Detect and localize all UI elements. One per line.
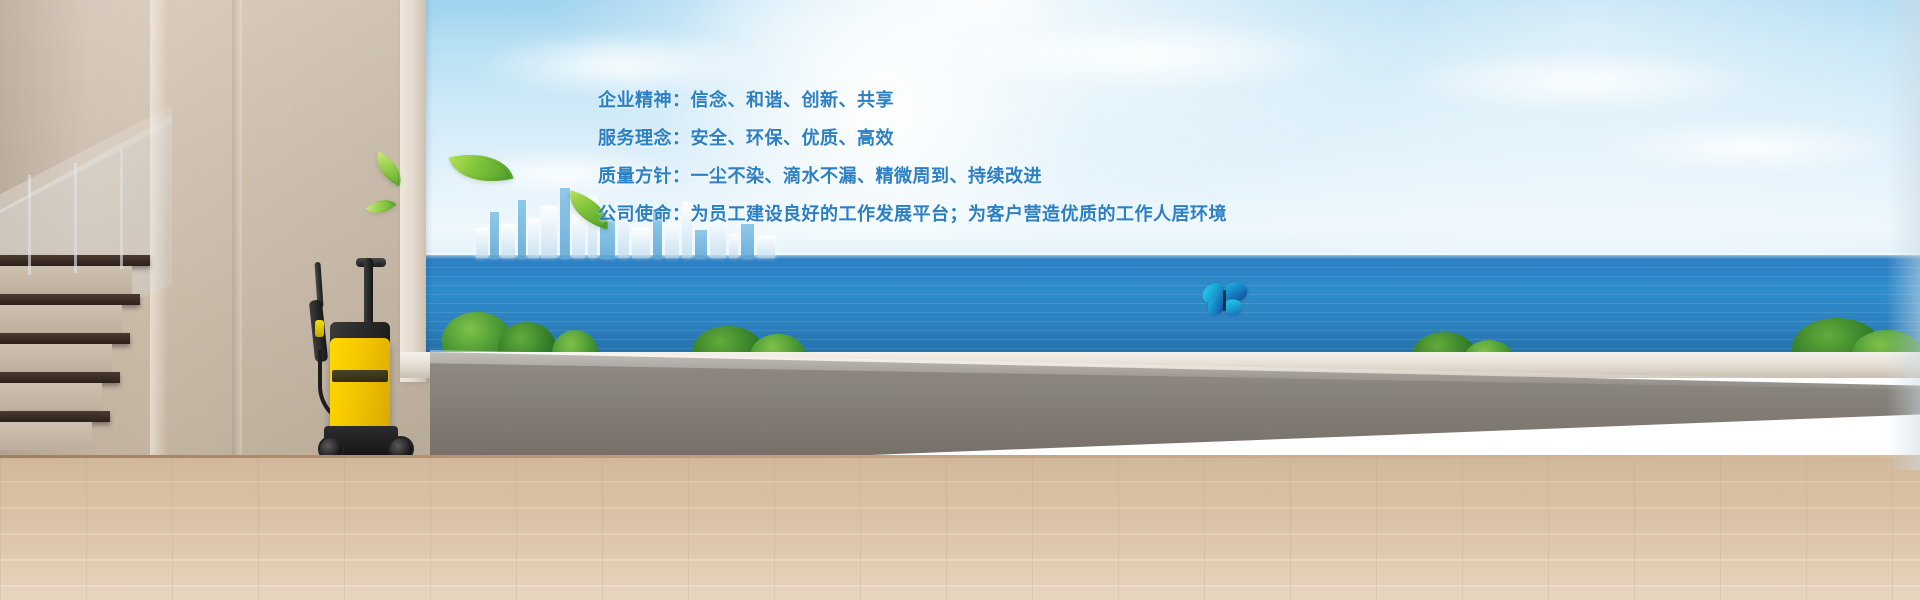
stair-riser [0, 266, 132, 294]
staircase [0, 105, 175, 445]
building [560, 188, 570, 258]
building [729, 234, 738, 258]
stair-riser [0, 422, 92, 450]
company-values-text-block: 企业精神：信念、和谐、创新、共享 服务理念：安全、环保、优质、高效 质量方针：一… [598, 92, 1358, 224]
washer-body [330, 338, 390, 438]
building [476, 228, 488, 258]
butterfly-body [1223, 290, 1226, 311]
stair-step [0, 333, 130, 344]
stair-riser [0, 383, 102, 411]
cloud [1392, 48, 1772, 114]
wall-vertical-edge [232, 0, 242, 470]
building [501, 224, 515, 258]
wooden-floor [0, 455, 1920, 600]
pressure-washer [308, 258, 420, 463]
building [541, 206, 557, 258]
stair-step [0, 294, 140, 305]
building [572, 214, 585, 258]
butterfly [1202, 282, 1248, 318]
building [741, 224, 754, 258]
washer-trigger [315, 320, 324, 337]
stair-riser [0, 344, 112, 372]
floor-wall-seam [0, 455, 1920, 458]
value-line-quality-policy: 质量方针：一尘不染、滴水不漏、精微周到、持续改进 [598, 168, 1358, 186]
cloud [932, 16, 1352, 96]
value-line-service-concept: 服务理念：安全、环保、优质、高效 [598, 130, 1358, 148]
building [757, 236, 775, 258]
stair-rail-post [74, 163, 77, 273]
building [490, 212, 499, 258]
stair-step [0, 411, 110, 422]
building [695, 230, 707, 258]
building [518, 200, 526, 258]
cloud [1592, 120, 1912, 174]
building [528, 218, 539, 258]
stair-riser [0, 305, 122, 333]
value-line-company-mission: 公司使命：为员工建设良好的工作发展平台；为客户营造优质的工作人居环境 [598, 206, 1358, 224]
company-values-hero-banner: 企业精神：信念、和谐、创新、共享 服务理念：安全、环保、优质、高效 质量方针：一… [0, 0, 1920, 600]
stair-step [0, 372, 120, 383]
stair-rail-post [120, 149, 123, 269]
right-wall-edge [1886, 0, 1920, 470]
value-line-enterprise-spirit: 企业精神：信念、和谐、创新、共享 [598, 92, 1358, 110]
building [665, 222, 679, 258]
building [632, 228, 650, 258]
washer-stripe [332, 370, 388, 382]
